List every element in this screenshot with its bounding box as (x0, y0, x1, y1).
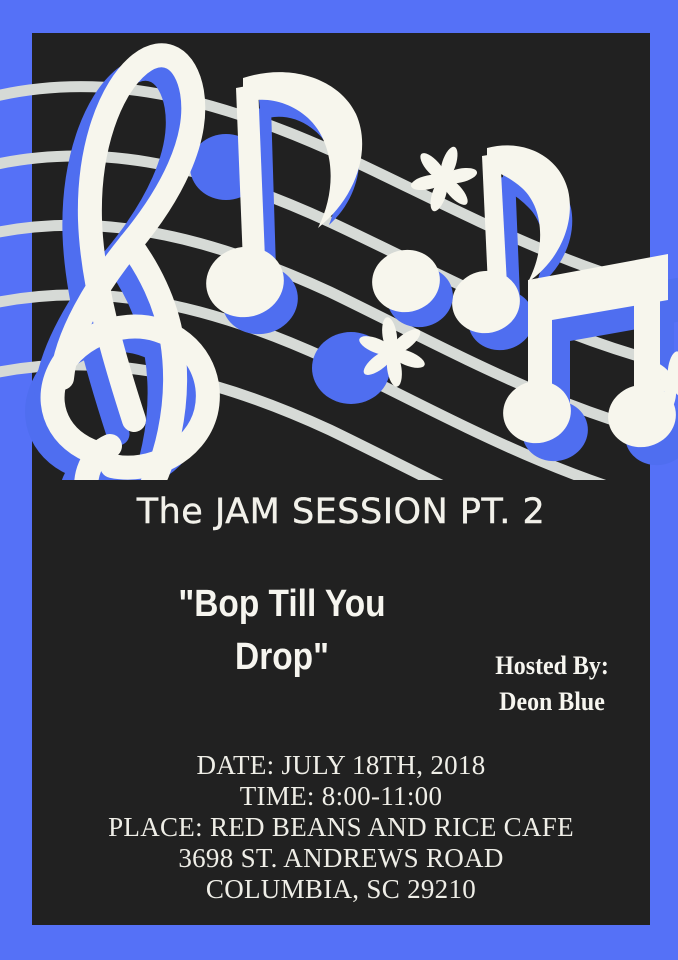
poster-flyer: The JAM SESSION PT. 2 "Bop Till You Drop… (0, 0, 678, 960)
detail-date: DATE: JULY 18TH, 2018 (32, 750, 650, 781)
host-credit: Hosted By: Deon Blue (469, 648, 635, 720)
event-details: DATE: JULY 18TH, 2018 TIME: 8:00-11:00 P… (32, 750, 650, 905)
subtitle-line-1: "Bop Till You (178, 583, 385, 625)
detail-street: 3698 ST. ANDREWS ROAD (32, 843, 650, 874)
poster-title: The JAM SESSION PT. 2 (32, 492, 650, 532)
subtitle-line-2: Drop" (62, 631, 502, 684)
poster-text-block: The JAM SESSION PT. 2 "Bop Till You Drop… (32, 470, 650, 925)
detail-city: COLUMBIA, SC 29210 (32, 874, 650, 905)
detail-place: PLACE: RED BEANS AND RICE CAFE (32, 812, 650, 843)
poster-subtitle: "Bop Till You Drop" (62, 578, 502, 684)
host-name: Deon Blue (469, 684, 635, 720)
host-label: Hosted By: (495, 651, 609, 680)
detail-time: TIME: 8:00-11:00 (32, 781, 650, 812)
